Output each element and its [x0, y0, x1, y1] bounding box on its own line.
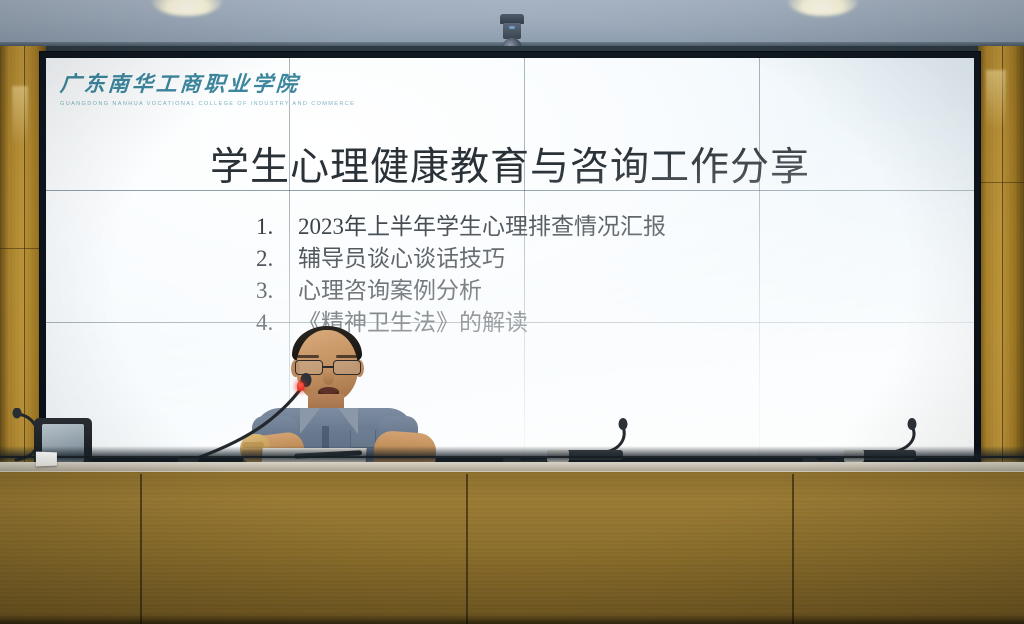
table-panel-seam: [140, 474, 142, 624]
conference-table-front: [0, 472, 1024, 624]
conference-room-scene: 广东南华工商职业学院 GUANGDONG NANHUA VOCATIONAL C…: [0, 0, 1024, 624]
slide-title: 学生心理健康教育与咨询工作分享: [46, 136, 974, 192]
list-item-number: 1.: [256, 213, 298, 241]
list-item-number: 2.: [256, 245, 298, 273]
wood-panel-seam: [978, 182, 1024, 183]
college-logo-cn: 广东南华工商职业学院: [59, 68, 356, 98]
list-item: 1. 2023年上半年学生心理排查情况汇报: [256, 213, 666, 241]
table-bottom-shadow: [0, 614, 1024, 624]
list-item: 3. 心理咨询案例分析: [256, 277, 666, 305]
wood-panel-highlight: [986, 70, 1006, 130]
college-logo-en: GUANGDONG NANHUA VOCATIONAL COLLEGE OF I…: [60, 101, 355, 107]
wood-panel-highlight: [12, 86, 28, 146]
list-item: 2. 辅导员谈心谈话技巧: [256, 245, 666, 273]
table-panel-seam: [466, 474, 468, 624]
college-logo: 广东南华工商职业学院 GUANGDONG NANHUA VOCATIONAL C…: [60, 68, 355, 107]
ptz-camera-led: [509, 26, 515, 29]
presenter-eyebrow: [336, 355, 358, 358]
table-panel-seam: [792, 474, 794, 624]
presenter-eyebrow: [297, 355, 319, 358]
slide-agenda-list: 1. 2023年上半年学生心理排查情况汇报 2. 辅导员谈心谈话技巧 3. 心理…: [256, 213, 666, 341]
microphone-indicator-light: [297, 382, 304, 391]
list-item-text: 2023年上半年学生心理排查情况汇报: [298, 213, 666, 241]
list-item-text: 心理咨询案例分析: [298, 277, 482, 305]
name-card: [36, 452, 57, 467]
list-item-number: 3.: [256, 277, 298, 305]
list-item-text: 辅导员谈心谈话技巧: [298, 245, 505, 273]
